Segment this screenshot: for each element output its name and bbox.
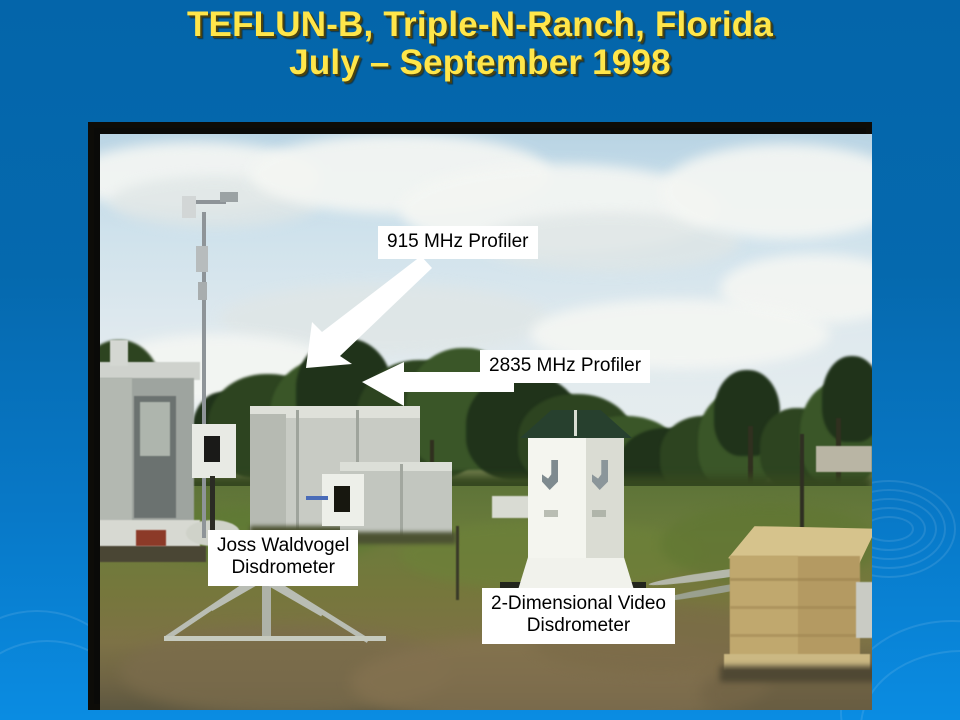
red-equipment: [136, 530, 166, 546]
callout-profiler-2835: 2835 MHz Profiler: [480, 350, 650, 383]
plywood-box-shadow: [720, 666, 872, 682]
callout-joss-waldvogel-line1: Joss Waldvogel: [217, 535, 349, 556]
fence-post: [800, 434, 804, 530]
trailer-door-window: [140, 402, 170, 456]
vd-body-shading: [586, 434, 624, 558]
callout-two-d-video-line1: 2-Dimensional Video: [491, 593, 666, 614]
callout-two-d-video: 2-Dimensional Video Disdrometer: [482, 588, 675, 644]
profiler-2835-control-box-window: [334, 486, 350, 512]
vd-label-plate: [544, 510, 558, 517]
callout-two-d-video-line2: Disdrometer: [491, 615, 666, 637]
plywood-grain: [730, 606, 860, 609]
callout-profiler-915-line1: 915 MHz Profiler: [387, 231, 529, 252]
profiler-2835-enclosure-top: [340, 462, 452, 471]
jw-disdrometer-ground-bar: [164, 636, 386, 641]
callout-joss-waldvogel-line2: Disdrometer: [217, 557, 349, 579]
title-line-2: July – September 1998: [0, 44, 960, 82]
site-photo-frame: 915 MHz Profiler 2835 MHz Profiler Joss …: [88, 122, 872, 710]
callout-joss-waldvogel: Joss Waldvogel Disdrometer: [208, 530, 358, 586]
fence-post: [456, 526, 459, 600]
vd-roof-ridge: [574, 410, 577, 436]
trailer-base-shadow: [100, 546, 206, 562]
profiler-915-control-box-window: [204, 436, 220, 462]
profiler-915-side-panel: [250, 414, 286, 530]
vd-label-plate: [592, 510, 606, 517]
ac-unit: [856, 582, 872, 638]
distant-building: [816, 446, 872, 472]
callout-profiler-2835-line1: 2835 MHz Profiler: [489, 355, 641, 376]
roof-vent: [110, 340, 128, 366]
mast-sensor: [196, 246, 208, 272]
slide-canvas: TEFLUN-B, Triple-N-Ranch, Florida July –…: [0, 0, 960, 720]
wind-vane: [220, 192, 238, 202]
trailer-wall-panel: [100, 378, 132, 526]
callout-profiler-915: 915 MHz Profiler: [378, 226, 538, 259]
page-title: TEFLUN-B, Triple-N-Ranch, Florida July –…: [0, 6, 960, 82]
profiler-2835-seam: [400, 464, 403, 536]
radiation-shield: [182, 196, 196, 218]
mast-sensor: [198, 282, 207, 300]
title-line-1: TEFLUN-B, Triple-N-Ranch, Florida: [0, 6, 960, 44]
plywood-grain: [730, 634, 860, 637]
profiler-915-seam: [296, 410, 299, 530]
site-photo: 915 MHz Profiler 2835 MHz Profiler Joss …: [100, 134, 872, 710]
plywood-grain: [730, 578, 860, 581]
ground-cable: [306, 496, 328, 500]
